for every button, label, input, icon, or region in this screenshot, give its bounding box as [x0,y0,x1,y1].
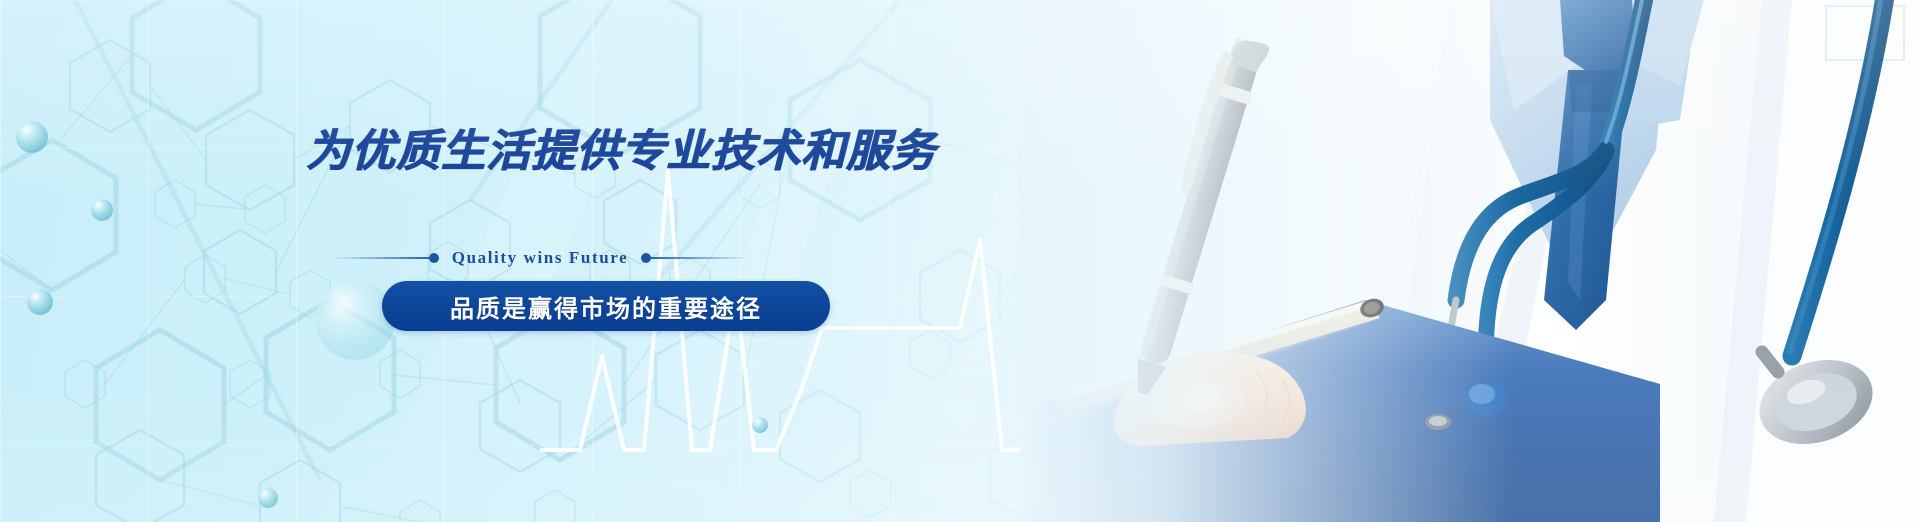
background-sheen [0,0,1920,522]
medical-hero-banner: 为优质生活提供专业技术和服务 Quality wins Future 品质是赢得… [0,0,1920,522]
